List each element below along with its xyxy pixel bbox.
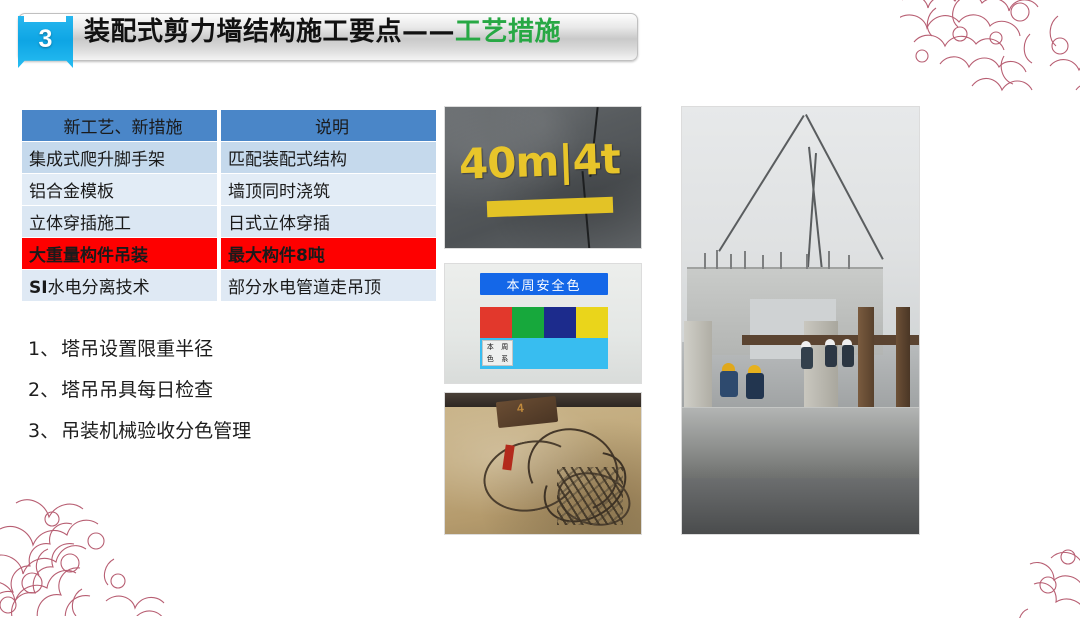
page-title: 装配式剪力墙结构施工要点——工艺措施 <box>84 11 561 48</box>
rebar-dowel <box>762 255 764 269</box>
table-header-row: 新工艺、新措施 说明 <box>22 110 436 141</box>
table-cell-note: 最大构件8吨 <box>221 238 436 269</box>
new-measures-table: 新工艺、新措施 说明 集成式爬升脚手架 匹配装配式结构 铝合金模板 墙顶同时浇筑… <box>22 109 436 302</box>
weekly-tag-char: 系 <box>498 353 513 365</box>
table-cell-note: 匹配装配式结构 <box>221 142 436 173</box>
decorative-cloud-pattern-top-right <box>900 0 1080 109</box>
rebar-dowel <box>848 255 850 269</box>
swatch-row-top <box>480 307 608 338</box>
table-cell-measure: 大重量构件吊装 <box>22 238 217 269</box>
rebar-dowel <box>730 254 732 269</box>
swatch-cyan <box>576 338 608 369</box>
worker-white-helmet <box>825 339 837 367</box>
section-number-text: 3 <box>18 20 73 58</box>
load-marking-text: 40m|4t <box>458 134 620 189</box>
list-item-number: 1、 <box>28 338 59 360</box>
swatch-yellow <box>576 307 608 338</box>
table-row: SI水电分离技术 部分水电管道走吊顶 <box>22 270 436 301</box>
decorative-cloud-pattern-bottom-right <box>936 523 1080 618</box>
worker-white-helmet <box>801 341 813 369</box>
swatch-red <box>480 307 512 338</box>
photo-rigging-equipment: 4 <box>444 392 642 535</box>
flatbed-truck <box>682 407 920 478</box>
table-row-highlighted: 大重量构件吊装 最大构件8吨 <box>22 238 436 269</box>
rebar-dowel <box>828 251 830 269</box>
rebar-dowel <box>780 252 782 269</box>
photo-precast-panel-lift <box>681 106 920 535</box>
table-cell-measure: 集成式爬升脚手架 <box>22 142 217 173</box>
rebar-dowel <box>744 251 746 269</box>
worker-body <box>746 373 764 399</box>
list-item: 2、塔吊吊具每日检查 <box>28 375 408 402</box>
helmet-icon <box>722 363 735 371</box>
worker-body <box>720 371 738 397</box>
table-row: 立体穿插施工 日式立体穿插 <box>22 206 436 237</box>
table-row: 集成式爬升脚手架 匹配装配式结构 <box>22 142 436 173</box>
table-cell-measure-prefix: SI <box>29 278 48 298</box>
table-cell-measure: 立体穿插施工 <box>22 206 217 237</box>
table-cell-measure: 铝合金模板 <box>22 174 217 205</box>
table-cell-measure-text: 水电分离技术 <box>48 278 150 298</box>
lifting-plate-number: 4 <box>516 401 524 416</box>
weekly-color-tag: 本 周 色 系 <box>482 340 513 366</box>
list-item-label: 吊装机械验收分色管理 <box>61 420 251 442</box>
list-item-number: 2、 <box>28 379 59 401</box>
page-title-main: 装配式剪力墙结构施工要点—— <box>84 17 455 47</box>
list-item: 1、塔吊设置限重半径 <box>28 334 408 361</box>
list-item-number: 3、 <box>28 420 59 442</box>
list-item-label: 塔吊吊具每日检查 <box>61 379 213 401</box>
rebar-dowel <box>704 253 706 269</box>
wire-rope-bundle <box>557 467 623 525</box>
swatch-green <box>512 307 544 338</box>
photo-load-marking: 40m|4t <box>444 106 642 249</box>
table-row: 铝合金模板 墙顶同时浇筑 <box>22 174 436 205</box>
worker-body <box>825 345 837 367</box>
list-item-label: 塔吊设置限重半径 <box>61 338 213 360</box>
rebar-dowel <box>716 250 718 269</box>
worker-body <box>842 345 854 367</box>
swatch-cyan <box>512 338 544 369</box>
list-item: 3、吊装机械验收分色管理 <box>28 416 408 443</box>
table-cell-note: 墙顶同时浇筑 <box>221 174 436 205</box>
swatch-cyan <box>544 338 576 369</box>
worker-yellow-helmet <box>722 363 738 397</box>
photo-safety-color-board: 本周安全色 本 周 色 系 <box>444 263 642 384</box>
weekly-tag-char: 本 <box>483 341 498 353</box>
worker-white-helmet <box>842 339 854 367</box>
table-cell-note: 日式立体穿插 <box>221 206 436 237</box>
safety-color-banner: 本周安全色 <box>480 273 608 295</box>
table-cell-measure: SI水电分离技术 <box>22 270 217 301</box>
decorative-cloud-pattern-bottom-left <box>0 471 201 616</box>
swatch-blue <box>544 307 576 338</box>
weekly-tag-char: 周 <box>498 341 513 353</box>
table-header-note: 说明 <box>221 110 436 141</box>
table-cell-note: 部分水电管道走吊顶 <box>221 270 436 301</box>
page-title-accent: 工艺措施 <box>455 17 561 47</box>
helmet-icon <box>748 365 761 373</box>
weekly-tag-char: 色 <box>483 353 498 365</box>
table-header-measure: 新工艺、新措施 <box>22 110 217 141</box>
worker-body <box>801 347 813 369</box>
rebar-dowel <box>806 254 808 269</box>
worker-yellow-helmet <box>748 365 764 399</box>
key-points-list: 1、塔吊设置限重半径 2、塔吊吊具每日检查 3、吊装机械验收分色管理 <box>28 334 408 457</box>
